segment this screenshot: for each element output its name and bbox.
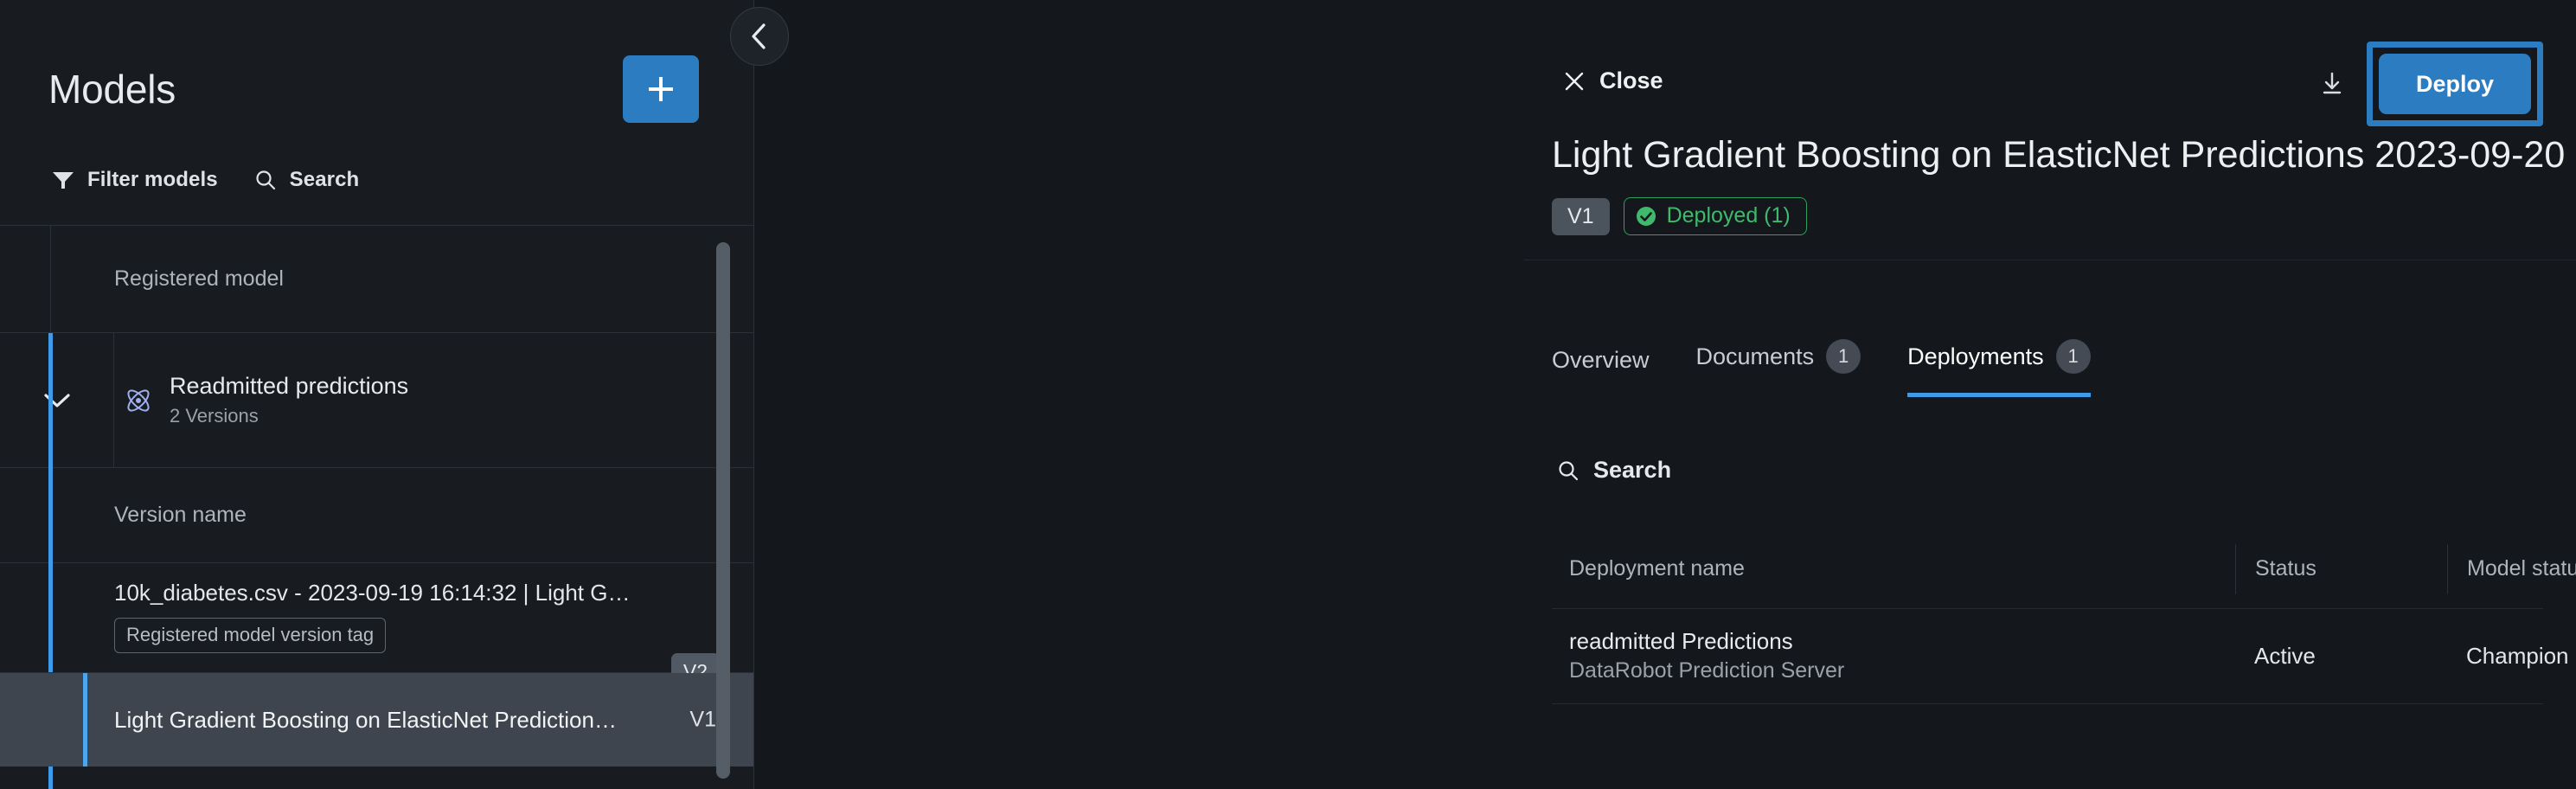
detail-tabs: Overview Documents 1 Deployments 1 (1552, 339, 2091, 397)
version-name-v1: Light Gradient Boosting on ElasticNet Pr… (114, 706, 754, 734)
version-name-label: Version name (114, 503, 247, 528)
sidebar-scrollbar-thumb[interactable] (716, 242, 730, 779)
registered-model-column-header: Registered model (0, 226, 754, 333)
registered-model-icon (114, 385, 163, 416)
add-model-button[interactable] (623, 55, 699, 123)
list-item-version-v1[interactable]: Light Gradient Boosting on ElasticNet Pr… (0, 673, 754, 767)
check-circle-icon (1635, 205, 1657, 228)
deployed-chip-label: Deployed (1) (1667, 203, 1791, 228)
atom-icon (123, 385, 154, 416)
filter-models-label: Filter models (87, 168, 218, 192)
cell-model-status: Champion (2447, 643, 2576, 670)
header-actions: Deploy (2306, 42, 2543, 126)
deployment-name: readmitted Predictions (1569, 626, 2235, 657)
selected-accent-bar (83, 673, 87, 767)
tab-documents-label: Documents (1696, 343, 1815, 370)
model-title: Light Gradient Boosting on ElasticNet Pr… (1552, 134, 2576, 176)
list-item-version-v2[interactable]: 10k_diabetes.csv - 2023-09-19 16:14:32 |… (0, 563, 754, 673)
status-badge-deployed[interactable]: Deployed (1) (1624, 197, 1807, 235)
tab-deployments[interactable]: Deployments 1 (1907, 339, 2091, 397)
version-chip: V1 (1552, 198, 1610, 235)
close-button[interactable]: Close (1563, 67, 1663, 94)
download-icon (2317, 69, 2347, 99)
registered-model-versions-count: 2 Versions (170, 405, 408, 427)
tab-documents[interactable]: Documents 1 (1696, 339, 1862, 397)
expand-toggle[interactable] (0, 333, 114, 467)
model-detail-panel: Close Deploy Light Gradient Boosting on … (754, 0, 2576, 789)
cell-status: Active (2235, 643, 2447, 670)
sidebar-scrollbar[interactable] (716, 242, 730, 779)
models-list: Registered model R (0, 225, 754, 779)
models-sidebar: Models Filter models Search (0, 0, 754, 789)
column-header-model-status[interactable]: Model status (2447, 544, 2576, 594)
deployments-search-label: Search (1593, 457, 1671, 484)
sidebar-search-button[interactable]: Search (254, 168, 360, 192)
deployments-table: Deployment name Status Model status Depl… (1552, 529, 2543, 704)
deployments-search-button[interactable]: Search (1557, 457, 1671, 484)
sidebar-toolbar: Filter models Search (0, 154, 754, 206)
collapse-panel-button[interactable] (730, 7, 789, 66)
app-root: Models Filter models Search (0, 0, 2576, 789)
detail-header: Close Deploy Light Gradient Boosting on … (754, 0, 2576, 260)
search-icon (254, 169, 277, 191)
table-row[interactable]: readmitted Predictions DataRobot Predict… (1552, 609, 2543, 704)
list-item-registered-model[interactable]: Readmitted predictions 2 Versions (0, 333, 754, 468)
tab-overview-label: Overview (1552, 347, 1650, 374)
deploy-button[interactable]: Deploy (2379, 54, 2531, 114)
column-header-status[interactable]: Status (2235, 544, 2447, 594)
plus-icon (646, 74, 676, 104)
tab-deployments-count: 1 (2056, 339, 2091, 374)
model-badges: V1 Deployed (1) (1552, 197, 1807, 235)
table-header-row: Deployment name Status Model status Depl… (1552, 529, 2543, 609)
cell-deployment-name: readmitted Predictions DataRobot Predict… (1552, 626, 2235, 686)
deploy-button-highlight: Deploy (2367, 42, 2543, 126)
registered-model-meta: Readmitted predictions 2 Versions (163, 373, 408, 427)
deployment-status: Active (2254, 643, 2316, 669)
deployment-server: DataRobot Prediction Server (1569, 657, 2235, 686)
close-icon (1563, 70, 1586, 93)
search-icon (1557, 459, 1580, 482)
filter-icon (52, 170, 74, 189)
row-accent-bar (48, 333, 53, 468)
tab-overview[interactable]: Overview (1552, 347, 1650, 397)
chevron-left-icon (747, 22, 772, 51)
tab-deployments-label: Deployments (1907, 343, 2044, 370)
tab-documents-count: 1 (1826, 339, 1861, 374)
version-tag-v2: Registered model version tag (114, 618, 386, 653)
download-button[interactable] (2306, 58, 2358, 110)
chevron-down-icon (42, 392, 72, 409)
registered-model-label: Registered model (114, 266, 284, 292)
version-name-column-header: Version name (0, 468, 754, 563)
model-status: Champion (2466, 643, 2569, 669)
versions-list: Version name 10k_diabetes.csv - 2023-09-… (0, 468, 754, 767)
registered-model-name: Readmitted predictions (170, 373, 408, 400)
column-header-deployment-name[interactable]: Deployment name (1552, 544, 2235, 594)
filter-models-button[interactable]: Filter models (52, 168, 218, 192)
sidebar-search-label: Search (290, 168, 360, 192)
header-separator (1524, 260, 2576, 260)
version-badge-v1: V1 (689, 707, 716, 732)
version-name-v2: 10k_diabetes.csv - 2023-09-19 16:14:32 |… (114, 579, 754, 607)
close-label: Close (1599, 67, 1663, 94)
page-title: Models (48, 69, 176, 109)
sidebar-header: Models (0, 0, 754, 138)
